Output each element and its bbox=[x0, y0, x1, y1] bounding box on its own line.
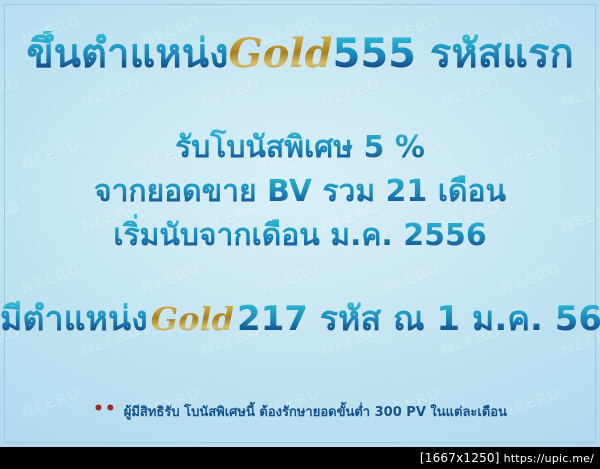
headline-gold-word: Gold bbox=[228, 30, 332, 77]
footnote: •• ผู้มีสิทธิรับ โบนัสพิเศษนี้ ต้องรักษา… bbox=[0, 401, 600, 422]
gold-count-part1: มีตำแหน่ง bbox=[0, 299, 148, 339]
poster-image: NEERONEERONEERONEERONEERONEERONEERONEERO… bbox=[0, 0, 600, 447]
headline: ขึ้นตำแหน่งGold555 รหัสแรก bbox=[0, 28, 600, 80]
image-dimensions-label: [1667x1250] bbox=[420, 451, 500, 465]
headline-part2: 555 รหัสแรก bbox=[333, 31, 574, 77]
footnote-bullet-icon: •• bbox=[93, 404, 117, 414]
headline-part1: ขึ้นตำแหน่ง bbox=[26, 31, 228, 77]
poster-content: ขึ้นตำแหน่งGold555 รหัสแรก รับโบนัสพิเศษ… bbox=[0, 0, 600, 447]
gold-count-part2: 217 รหัส ณ 1 ม.ค. 56 bbox=[237, 299, 600, 339]
viewer-status-bar: [1667x1250] https://upic.me/ bbox=[0, 447, 600, 469]
footnote-text: ผู้มีสิทธิรับ โบนัสพิเศษนี้ ต้องรักษายอด… bbox=[124, 401, 507, 422]
subhead-line-3: เริ่มนับจากเดือน ม.ค. 2556 bbox=[0, 214, 600, 258]
subhead-line-2: จากยอดขาย BV รวม 21 เดือน bbox=[0, 170, 600, 214]
gold-count-gold-word: Gold bbox=[148, 300, 237, 338]
image-viewer: NEERONEERONEERONEERONEERONEERONEERONEERO… bbox=[0, 0, 600, 469]
image-host-url[interactable]: https://upic.me/ bbox=[504, 452, 594, 465]
gold-count-line: มีตำแหน่งGold217 รหัส ณ 1 ม.ค. 56 bbox=[0, 296, 600, 342]
subhead-block: รับโบนัสพิเศษ 5 % จากยอดขาย BV รวม 21 เด… bbox=[0, 126, 600, 258]
subhead-line-1: รับโบนัสพิเศษ 5 % bbox=[0, 126, 600, 170]
